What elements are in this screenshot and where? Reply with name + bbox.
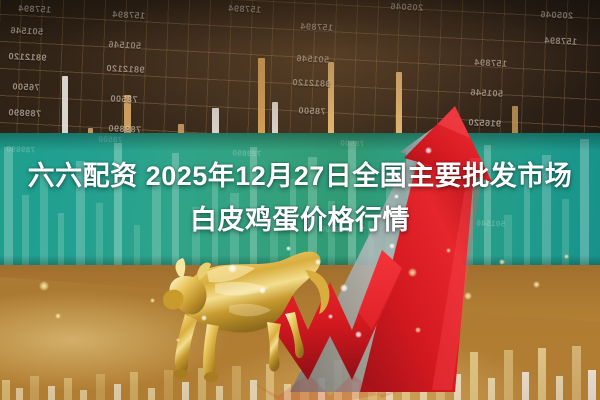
- bokeh-light: [499, 259, 505, 265]
- bokeh-light: [464, 292, 472, 300]
- bokeh-light: [259, 287, 266, 294]
- bokeh-light: [564, 254, 569, 259]
- bokeh-light: [389, 243, 395, 249]
- bokeh-light: [415, 327, 421, 333]
- bokeh-light: [340, 284, 348, 292]
- bokeh-light: [55, 313, 61, 319]
- bokeh-light: [150, 298, 155, 303]
- bokeh-light: [328, 314, 333, 319]
- banner-title-block: 六六配资 2025年12月27日全国主要批发市场 白皮鸡蛋价格行情: [0, 154, 600, 242]
- bokeh-light: [408, 268, 417, 277]
- title-line-1: 六六配资 2025年12月27日全国主要批发市场: [0, 154, 600, 198]
- bokeh-light: [446, 248, 451, 253]
- bokeh-light: [315, 259, 321, 265]
- bokeh-light: [355, 331, 362, 338]
- bokeh-light: [39, 281, 49, 291]
- bokeh-light: [176, 338, 180, 342]
- title-line-2: 白皮鸡蛋价格行情: [0, 198, 600, 242]
- bokeh-light: [425, 147, 432, 154]
- banner-image: 1578945015469812120765007898901578945015…: [0, 0, 600, 400]
- bokeh-light: [533, 281, 540, 288]
- bokeh-light: [201, 315, 207, 321]
- bokeh-light: [286, 246, 291, 251]
- bokeh-light: [228, 264, 237, 273]
